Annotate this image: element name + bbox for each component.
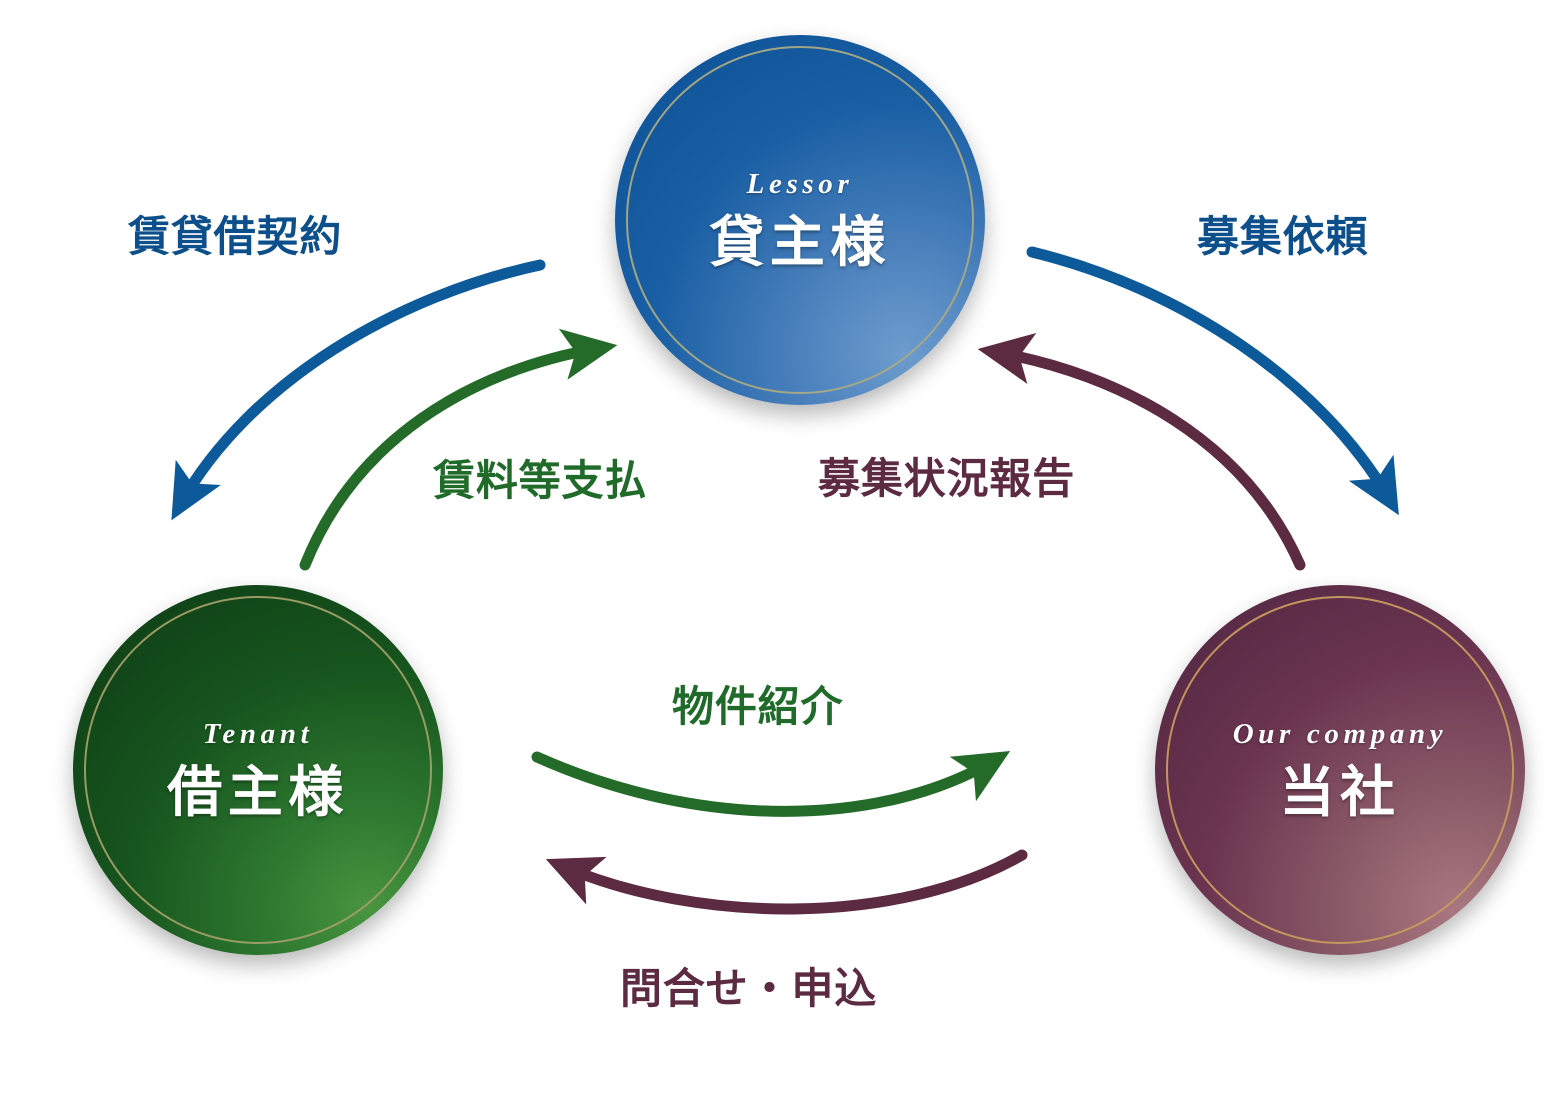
node-tenant-en: Tenant bbox=[203, 720, 314, 749]
flow-label-inquiry-application: 問合せ・申込 bbox=[620, 968, 877, 1010]
node-lessor[interactable]: Lessor 貸主様 bbox=[615, 35, 985, 405]
node-lessor-en: Lessor bbox=[747, 170, 854, 199]
node-tenant[interactable]: Tenant 借主様 bbox=[73, 585, 443, 955]
diagram-canvas: Lessor 貸主様 Tenant 借主様 Our company 当社 賃貸借… bbox=[0, 0, 1558, 1096]
node-lessor-jp: 貸主様 bbox=[709, 215, 891, 270]
node-our-company[interactable]: Our company 当社 bbox=[1155, 585, 1525, 955]
flow-label-status-report: 募集状況報告 bbox=[818, 458, 1075, 500]
node-tenant-jp: 借主様 bbox=[167, 765, 349, 820]
arrow-inquiry-application bbox=[562, 855, 1022, 909]
node-company-jp: 当社 bbox=[1279, 765, 1400, 820]
node-company-en: Our company bbox=[1233, 720, 1448, 749]
flow-label-recruit-request: 募集依頼 bbox=[1197, 216, 1368, 258]
flow-label-rent-payment: 賃料等支払 bbox=[433, 460, 647, 502]
flow-label-property-intro: 物件紹介 bbox=[672, 686, 843, 728]
arrow-property-intro bbox=[537, 757, 995, 811]
flow-label-lease: 賃貸借契約 bbox=[128, 216, 342, 258]
